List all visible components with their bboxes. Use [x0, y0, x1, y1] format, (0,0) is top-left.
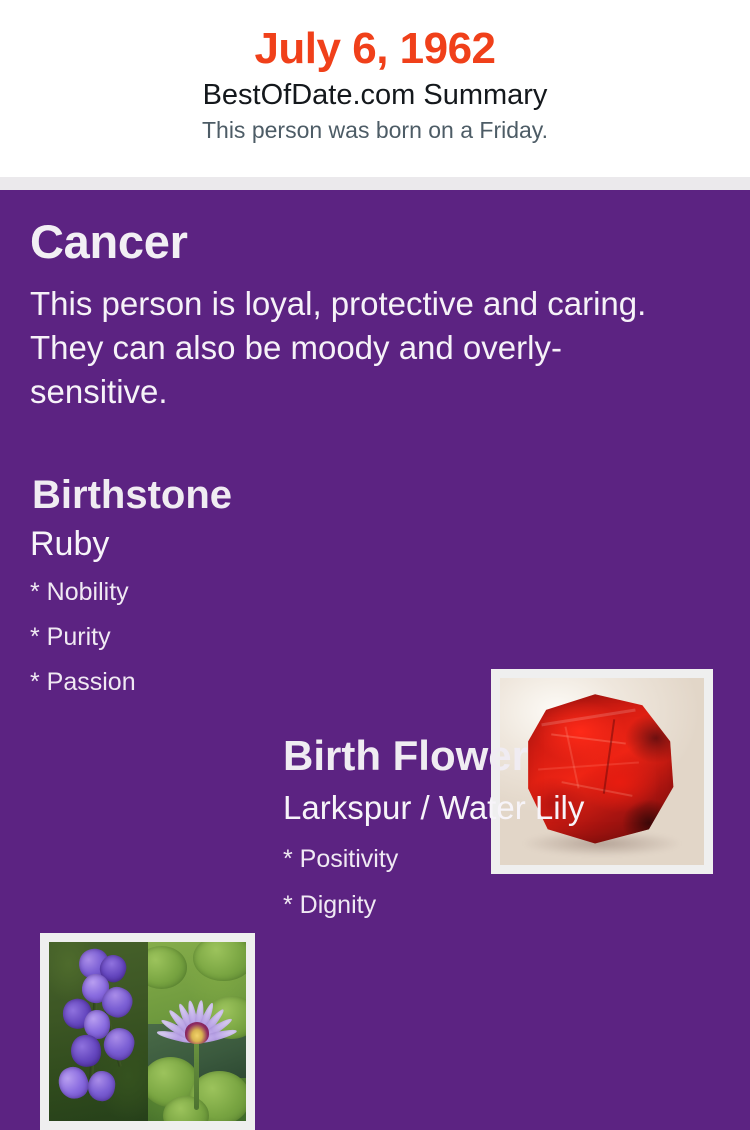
- birth-flower-image: [40, 933, 255, 1130]
- birthstone-name: Ruby: [30, 527, 109, 561]
- birth-flower-heading: Birth Flower: [283, 735, 528, 777]
- larkspur-photo-half: [49, 942, 148, 1121]
- header-divider: [0, 177, 750, 190]
- header: July 6, 1962 BestOfDate.com Summary This…: [0, 0, 750, 177]
- birth-flower-trait-list: * Positivity * Dignity: [283, 847, 398, 939]
- list-item: * Nobility: [30, 580, 136, 605]
- list-item: * Dignity: [283, 893, 398, 918]
- zodiac-sign-title: Cancer: [30, 218, 188, 265]
- content-panel: Cancer This person is loyal, protective …: [0, 190, 750, 1000]
- water-lily-bloom-icon: [166, 976, 227, 1055]
- birth-flower-name: Larkspur / Water Lily: [283, 791, 584, 824]
- water-lily-photo-half: [148, 942, 247, 1121]
- list-item: * Purity: [30, 625, 136, 650]
- flower-composite: [49, 942, 246, 1121]
- site-name: BestOfDate.com Summary: [0, 72, 750, 112]
- zodiac-description: This person is loyal, protective and car…: [30, 282, 650, 414]
- summary-card: July 6, 1962 BestOfDate.com Summary This…: [0, 0, 750, 1000]
- list-item: * Passion: [30, 670, 136, 695]
- list-item: * Positivity: [283, 847, 398, 872]
- birthstone-image-inner: [500, 678, 704, 865]
- page-title-date: July 6, 1962: [0, 0, 750, 72]
- birthstone-trait-list: * Nobility * Purity * Passion: [30, 580, 136, 715]
- birth-day-note: This person was born on a Friday.: [0, 112, 750, 143]
- birth-flower-image-inner: [49, 942, 246, 1121]
- birthstone-heading: Birthstone: [32, 475, 232, 515]
